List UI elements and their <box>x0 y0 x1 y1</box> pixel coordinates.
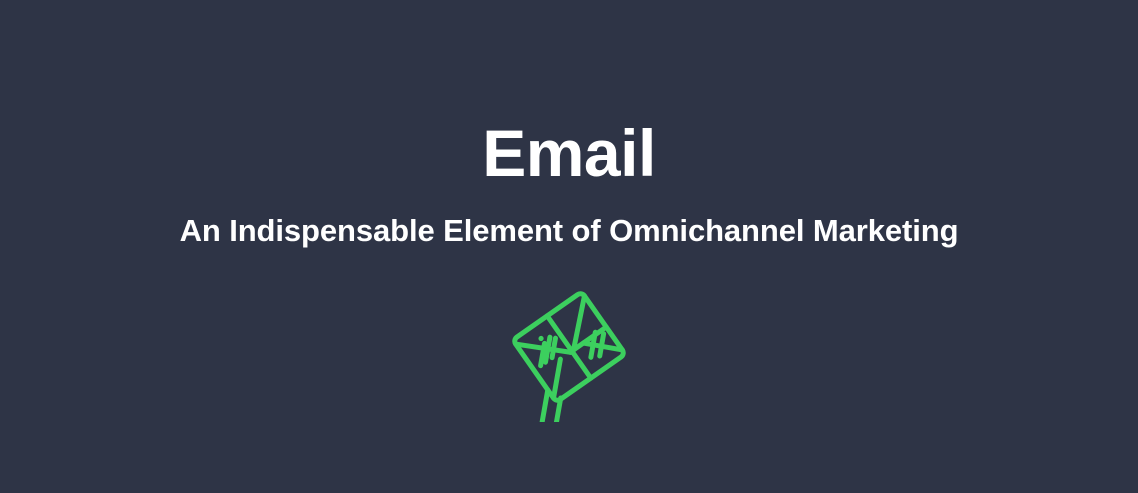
hero-banner: Email An Indispensable Element of Omnich… <box>0 0 1138 493</box>
page-title: Email <box>0 120 1138 186</box>
envelope-group <box>489 292 639 422</box>
hero-icon-container <box>0 272 1138 422</box>
sparkle-dot-1 <box>537 335 544 342</box>
flying-envelope-icon <box>489 272 649 422</box>
page-subtitle: An Indispensable Element of Omnichannel … <box>0 214 1138 248</box>
